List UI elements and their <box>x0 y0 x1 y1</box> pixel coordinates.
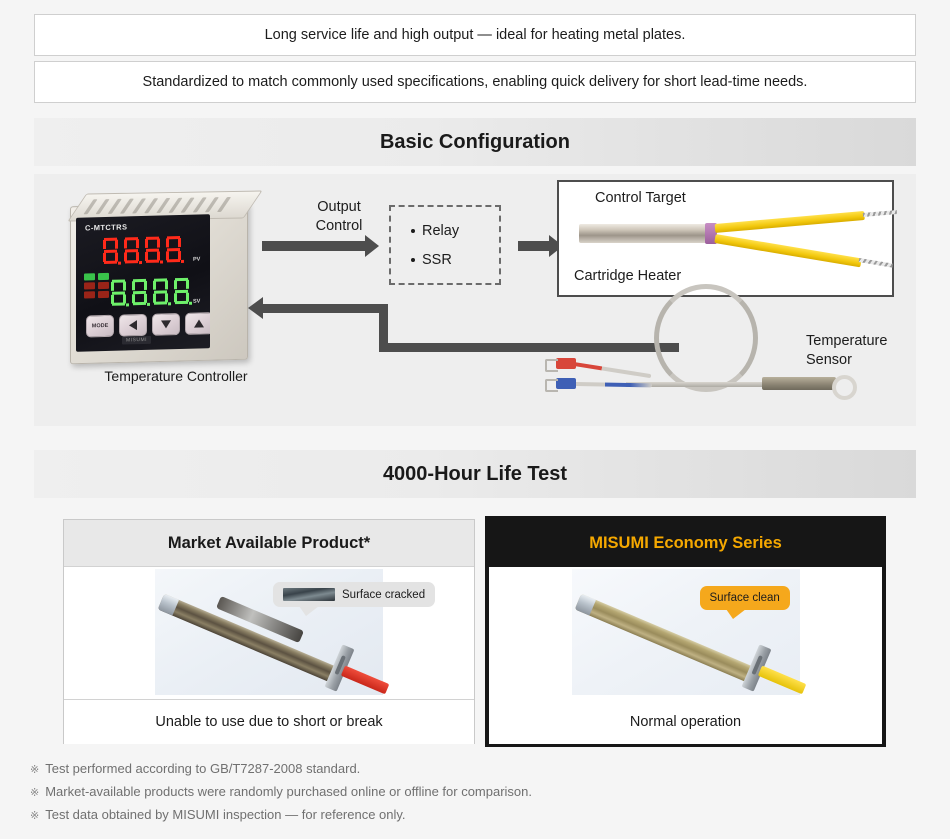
switching-device-box: Relay SSR <box>389 205 501 285</box>
sensor-blue-terminal <box>556 378 576 389</box>
sensor-red-terminal <box>556 358 576 369</box>
relay-to-heater-arrow-icon <box>518 241 550 251</box>
footnote-text: Test performed according to GB/T7287-200… <box>45 758 360 780</box>
switching-option-ssr-label: SSR <box>422 252 452 268</box>
down-arrow-icon <box>161 320 171 328</box>
panel-title-market-product: Market Available Product* <box>64 520 474 567</box>
sv-display <box>110 277 190 307</box>
temperature-controller-illustration: C-MTCTRS PV SV <box>56 182 276 382</box>
photo-backdrop: Surface cracked <box>155 569 383 695</box>
controller-left-arrow-button[interactable] <box>119 314 147 337</box>
output-control-line2: Control <box>284 217 394 236</box>
callout-surface-clean: Surface clean <box>700 586 790 610</box>
sensor-blue-fork-lug <box>545 379 558 392</box>
control-target-box: Control Target Cartridge Heater <box>557 180 894 297</box>
section-header-basic-configuration: Basic Configuration <box>34 118 916 166</box>
basic-configuration-diagram: C-MTCTRS PV SV <box>34 174 916 426</box>
controller-up-arrow-button[interactable] <box>185 312 210 335</box>
cartridge-heater-lead-wire <box>715 211 865 233</box>
up-arrow-icon <box>194 319 204 327</box>
switching-option-ssr: SSR <box>411 252 499 268</box>
callout-surface-clean-text: Surface clean <box>710 592 780 604</box>
crack-thumbnail-image <box>283 588 335 601</box>
footnote-list: ※ Test performed according to GB/T7287-2… <box>30 758 532 827</box>
section-header-basic-configuration-text: Basic Configuration <box>380 131 570 154</box>
feedback-arrow-segment <box>262 304 388 313</box>
panel-caption-misumi-text: Normal operation <box>630 714 741 730</box>
bullet-icon <box>411 229 415 233</box>
led-indicator <box>84 273 95 280</box>
output-control-arrow-icon <box>262 241 366 251</box>
lead-wire-twisted-end <box>859 258 893 268</box>
led-indicator <box>98 282 109 289</box>
panel-caption-market-product-text: Unable to use due to short or break <box>155 714 382 730</box>
panel-title-misumi: MISUMI Economy Series <box>489 520 882 567</box>
callout-surface-cracked: Surface cracked <box>273 582 435 607</box>
temperature-sensor-label: Temperature Sensor <box>806 332 916 370</box>
controller-status-leds <box>84 273 109 299</box>
feature-statement-1: Long service life and high output — idea… <box>34 14 916 56</box>
control-target-label: Control Target <box>595 190 686 206</box>
reference-mark-icon: ※ <box>30 782 39 804</box>
feedback-arrow-head-icon <box>248 297 263 319</box>
sensor-coiled-cable <box>654 284 758 392</box>
heater-lead-wire-yellow <box>757 665 805 694</box>
temperature-sensor-label-line2: Sensor <box>806 351 916 370</box>
pv-unit-label: PV <box>193 256 200 262</box>
temperature-controller-caption: Temperature Controller <box>56 368 296 384</box>
panel-caption-market-product: Unable to use due to short or break <box>64 699 474 744</box>
left-arrow-icon <box>129 320 137 330</box>
footnote-item: ※ Test performed according to GB/T7287-2… <box>30 758 532 781</box>
feature-statement-2: Standardized to match commonly used spec… <box>34 61 916 103</box>
sv-unit-label: SV <box>193 298 200 304</box>
heater-lead-wire-red <box>341 665 389 694</box>
controller-front-panel: C-MTCTRS PV SV <box>76 214 210 352</box>
comparison-panel-misumi: MISUMI Economy Series Surface clean Norm… <box>485 516 886 747</box>
footnote-text: Test data obtained by MISUMI inspection … <box>45 804 405 826</box>
pv-display <box>102 235 182 265</box>
sensor-probe-tip <box>762 377 836 390</box>
led-indicator <box>84 291 95 298</box>
controller-down-arrow-button[interactable] <box>152 313 180 336</box>
sensor-ring-terminal <box>832 375 857 400</box>
sensor-red-fork-lug <box>545 359 558 372</box>
comparison-panel-market-product: Market Available Product* Surface cracke… <box>63 519 475 744</box>
switching-option-relay: Relay <box>411 223 499 239</box>
temperature-sensor-illustration: Temperature Sensor <box>534 284 864 416</box>
output-control-line1: Output <box>284 198 394 217</box>
cartridge-heater-tube <box>579 224 707 243</box>
footnote-text: Market-available products were randomly … <box>45 781 532 803</box>
cartridge-heater-lead-wire <box>714 234 861 267</box>
reference-mark-icon: ※ <box>30 759 39 781</box>
temperature-sensor-label-line1: Temperature <box>806 332 916 351</box>
reference-mark-icon: ※ <box>30 805 39 827</box>
led-indicator <box>98 273 109 280</box>
feature-statement-2-text: Standardized to match commonly used spec… <box>143 74 808 90</box>
panel-photo-market-product: Surface cracked <box>64 567 474 699</box>
cartridge-heater-label: Cartridge Heater <box>574 268 681 284</box>
led-indicator <box>84 282 95 289</box>
panel-title-misumi-text: MISUMI Economy Series <box>589 534 782 553</box>
controller-brand-label: MISUMI <box>122 336 151 345</box>
feature-statement-1-text: Long service life and high output — idea… <box>265 27 686 43</box>
section-header-life-test: 4000-Hour Life Test <box>34 450 916 498</box>
sensor-blue-lead-wire <box>574 382 652 387</box>
lead-wire-twisted-end <box>863 210 897 217</box>
controller-model-label: C-MTCTRS <box>85 222 127 232</box>
footnote-item: ※ Test data obtained by MISUMI inspectio… <box>30 804 532 827</box>
switching-option-relay-label: Relay <box>422 223 459 239</box>
sensor-red-lead-wire <box>574 362 652 378</box>
photo-backdrop: Surface clean <box>572 569 800 695</box>
callout-surface-cracked-text: Surface cracked <box>342 589 425 601</box>
panel-caption-misumi: Normal operation <box>489 699 882 744</box>
bullet-icon <box>411 258 415 262</box>
controller-mode-button[interactable]: MODE <box>86 315 114 338</box>
section-header-life-test-text: 4000-Hour Life Test <box>383 463 567 486</box>
led-indicator <box>98 291 109 298</box>
panel-photo-misumi: Surface clean <box>489 567 882 699</box>
controller-button-row: MODE <box>86 312 210 337</box>
panel-title-market-product-text: Market Available Product* <box>168 534 370 553</box>
footnote-item: ※ Market-available products were randoml… <box>30 781 532 804</box>
product-info-page: Long service life and high output — idea… <box>0 0 950 839</box>
output-control-label: Output Control <box>284 198 394 236</box>
